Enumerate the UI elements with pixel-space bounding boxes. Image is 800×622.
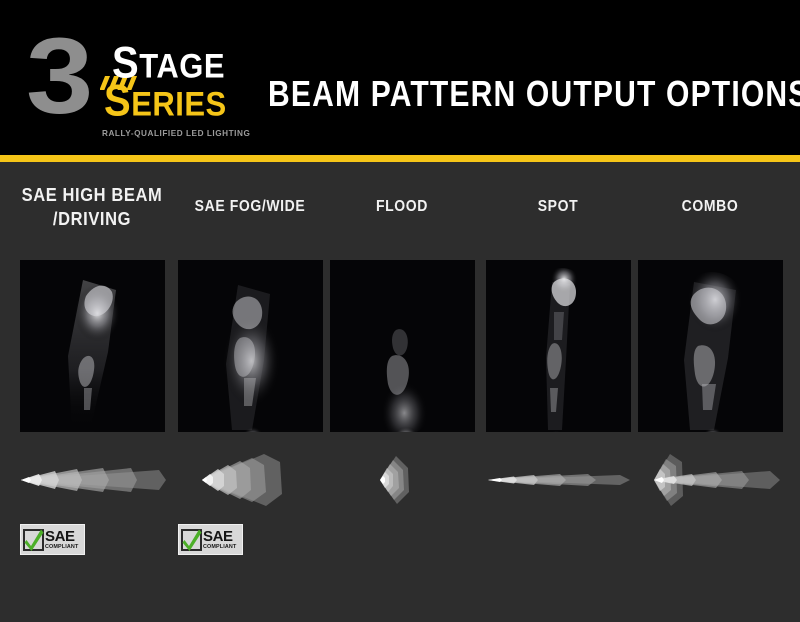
logo-tagline: RALLY-QUALIFIED LED LIGHTING [102, 129, 250, 138]
beam-diagram-driving [16, 450, 168, 510]
badge-subtitle: COMPLIANT [203, 545, 236, 550]
night-road-beam-photo-combo [638, 260, 783, 432]
column-label-line1: SAE FOG/WIDE [195, 196, 306, 214]
column-label-line1: COMBO [682, 196, 739, 214]
green-check-icon [23, 527, 44, 553]
beam-diagram-flood [326, 450, 478, 510]
beam-diagram-spot [482, 450, 634, 510]
yellow-accent-divider [0, 155, 800, 162]
column-label-flood: FLOOD [326, 194, 478, 218]
header-banner: 3 STAGE SERIES RALLY-QUALIFIED LED LIGHT… [0, 0, 800, 155]
page-title: BEAM PATTERN OUTPUT OPTIONS [268, 73, 800, 115]
beam-photo-spot [486, 260, 631, 432]
sae-compliant-badge-2: SAE COMPLIANT [178, 524, 243, 555]
logo-numeral-3: 3 [26, 28, 87, 124]
badge-subtitle: COMPLIANT [45, 545, 78, 550]
column-label-sae-high-beam-driving: SAE HIGH BEAM /DRIVING [16, 184, 168, 232]
beam-photo-flood [330, 260, 475, 432]
beam-diagram-wide [174, 450, 326, 510]
column-label-line2: /DRIVING [53, 209, 131, 230]
brand-logo: 3 STAGE SERIES RALLY-QUALIFIED LED LIGHT… [26, 28, 256, 128]
sae-compliant-badge-1: SAE COMPLIANT [20, 524, 85, 555]
column-label-line1: SAE HIGH BEAM [22, 185, 163, 206]
column-label-line1: FLOOD [376, 196, 428, 214]
logo-series-rest: ERIES [131, 84, 227, 123]
column-label-spot: SPOT [482, 194, 634, 218]
logo-stage-rest: TAGE [139, 46, 225, 85]
column-label-line1: SPOT [538, 196, 579, 214]
night-road-beam-photo-spot [486, 260, 631, 432]
badge-title: SAE [203, 529, 236, 544]
logo-series-initial: S [104, 76, 131, 125]
logo-word-series: SERIES [104, 84, 227, 121]
column-label-combo: COMBO [634, 194, 786, 218]
beam-photo-sae-fog-wide [178, 260, 323, 432]
column-label-sae-fog-wide: SAE FOG/WIDE [174, 194, 326, 218]
beam-pattern-grid: SAE HIGH BEAM /DRIVING [0, 162, 800, 622]
green-check-icon [181, 527, 202, 553]
beam-diagram-combo [634, 450, 786, 510]
beam-photo-sae-high-beam-driving [20, 260, 165, 432]
night-road-beam-photo-sae-high-beam-driving [20, 260, 165, 432]
beam-photo-combo [638, 260, 783, 432]
night-road-beam-photo-sae-fog-wide [178, 260, 323, 432]
badge-title: SAE [45, 529, 78, 544]
night-road-beam-photo-flood [330, 260, 475, 432]
